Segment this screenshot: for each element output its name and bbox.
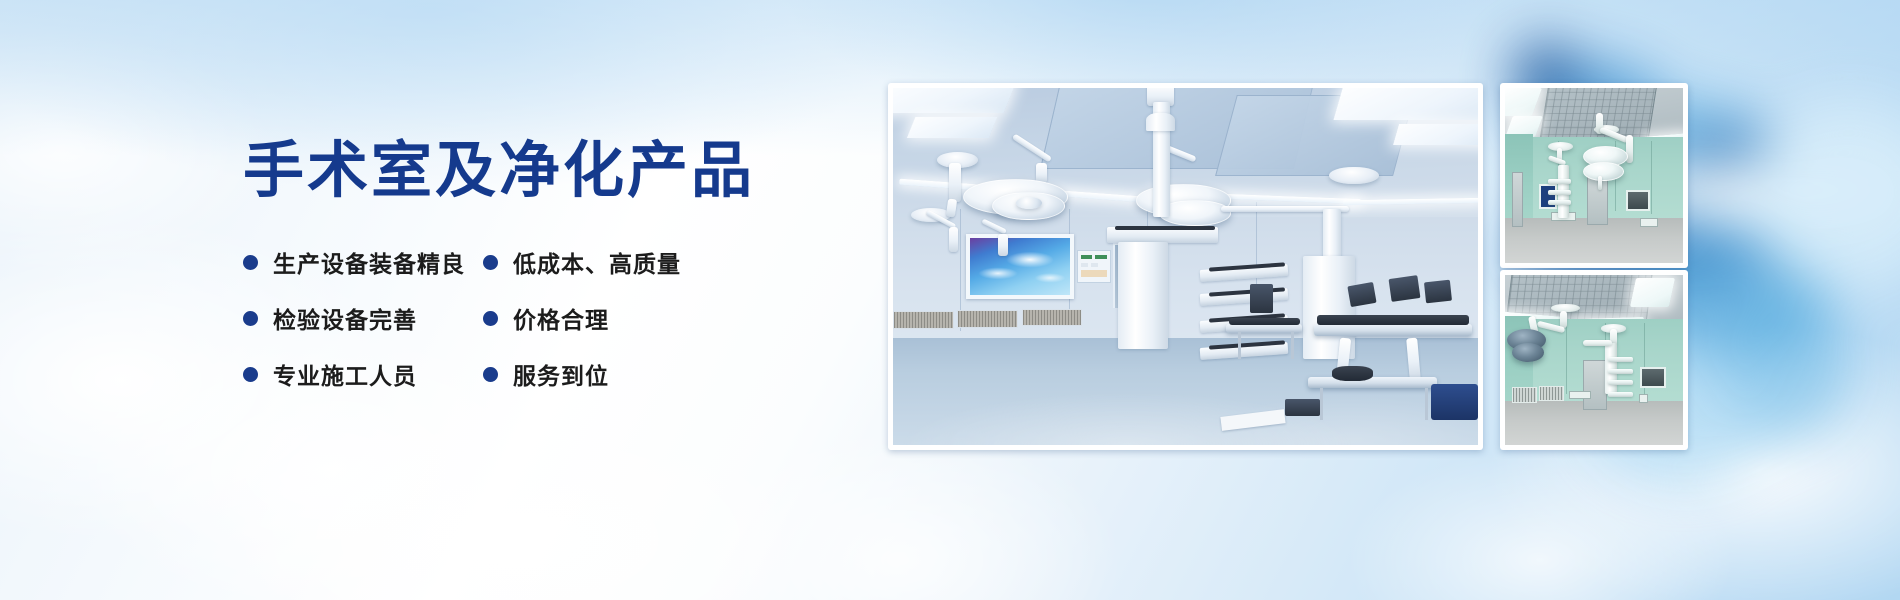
feature-label: 检验设备完善 xyxy=(273,301,417,335)
operating-room-thumb-bottom xyxy=(1500,270,1688,450)
operating-table xyxy=(1314,324,1472,336)
wall-control-board xyxy=(1077,250,1111,283)
feature-label: 专业施工人员 xyxy=(273,357,417,391)
bullet-dot-icon xyxy=(483,311,498,326)
feature-item-1: 生产设备装备精良 xyxy=(243,245,483,279)
feature-label: 低成本、高质量 xyxy=(513,245,681,279)
operating-room-thumb-top xyxy=(1500,83,1688,268)
promo-banner: 手术室及净化产品 生产设备装备精良 低成本、高质量 检验设备完善 价格合理 专业… xyxy=(0,0,1900,600)
bullet-dot-icon xyxy=(243,311,258,326)
banner-text-column: 手术室及净化产品 生产设备装备精良 低成本、高质量 检验设备完善 价格合理 专业… xyxy=(243,140,713,391)
blue-equipment-cart xyxy=(1431,384,1478,420)
thumb-top-image xyxy=(1505,88,1683,263)
feature-item-2: 低成本、高质量 xyxy=(483,245,713,279)
feature-item-3: 检验设备完善 xyxy=(243,301,483,335)
bullet-dot-icon xyxy=(483,255,498,270)
bullet-dot-icon xyxy=(243,255,258,270)
feature-item-4: 价格合理 xyxy=(483,301,713,335)
feature-label: 服务到位 xyxy=(513,357,609,391)
wall-sky-picture xyxy=(966,234,1073,299)
feature-label: 价格合理 xyxy=(513,301,609,335)
bullet-dot-icon xyxy=(483,367,498,382)
feature-label: 生产设备装备精良 xyxy=(273,245,465,279)
feature-item-5: 专业施工人员 xyxy=(243,357,483,391)
operating-room-main-photo xyxy=(888,83,1483,450)
main-photo-image xyxy=(893,88,1478,445)
thumb-bottom-image xyxy=(1505,275,1683,445)
banner-headline: 手术室及净化产品 xyxy=(243,140,713,201)
feature-item-6: 服务到位 xyxy=(483,357,713,391)
feature-list: 生产设备装备精良 低成本、高质量 检验设备完善 价格合理 专业施工人员 服务到位 xyxy=(243,245,713,391)
bullet-dot-icon xyxy=(243,367,258,382)
